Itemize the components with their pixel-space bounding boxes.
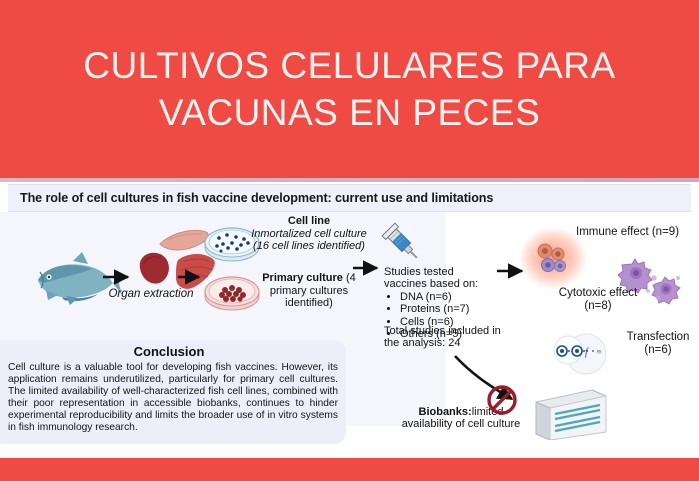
studies-intro: Studies tested vaccines based on:	[384, 266, 496, 291]
cytotoxic-effect-label: Cytotoxic effect (n=8)	[546, 287, 650, 313]
conclusion-box: Conclusion Cell culture is a valuable to…	[0, 340, 346, 444]
biobanks-title: Biobanks:	[419, 406, 472, 418]
immune-effect-label: Immune effect (n=9)	[576, 226, 696, 239]
header-divider	[0, 178, 699, 182]
immune-cells-icon	[528, 238, 578, 280]
page-title: CULTIVOS CELULARES PARA VACUNAS EN PECES	[40, 42, 660, 136]
footer-band	[0, 458, 699, 481]
subtitle-band: The role of cell cultures in fish vaccin…	[8, 184, 691, 212]
list-item: Proteins (n=7)	[400, 303, 496, 315]
svg-text:≋: ≋	[596, 349, 602, 356]
syringe-icon	[379, 220, 425, 266]
transfection-icon: f ≋	[546, 330, 618, 378]
no-entry-icon	[485, 383, 519, 417]
organ-extraction-label: Organ extraction	[90, 288, 212, 301]
cell-line-block: Cell line Inmortalized cell culture (16 …	[247, 215, 371, 253]
cell-line-description: Inmortalized cell culture (16 cell lines…	[251, 228, 367, 253]
cell-line-title: Cell line	[288, 215, 330, 227]
subtitle-text: The role of cell cultures in fish vaccin…	[8, 191, 493, 205]
list-item: DNA (n=6)	[400, 291, 496, 303]
primary-culture-block: Primary culture (4 primary cultures iden…	[247, 272, 371, 310]
transfection-label: Transfection (n=6)	[618, 331, 698, 357]
header-banner: CULTIVOS CELULARES PARA VACUNAS EN PECES	[0, 0, 699, 178]
studies-total: Total studies included in the analysis: …	[384, 325, 502, 350]
conclusion-body: Cell culture is a valuable tool for deve…	[8, 362, 338, 433]
poster: CULTIVOS CELULARES PARA VACUNAS EN PECES…	[0, 0, 699, 481]
conclusion-title: Conclusion	[0, 344, 346, 359]
primary-culture-title: Primary culture	[262, 272, 343, 284]
freezer-icon	[534, 388, 608, 440]
